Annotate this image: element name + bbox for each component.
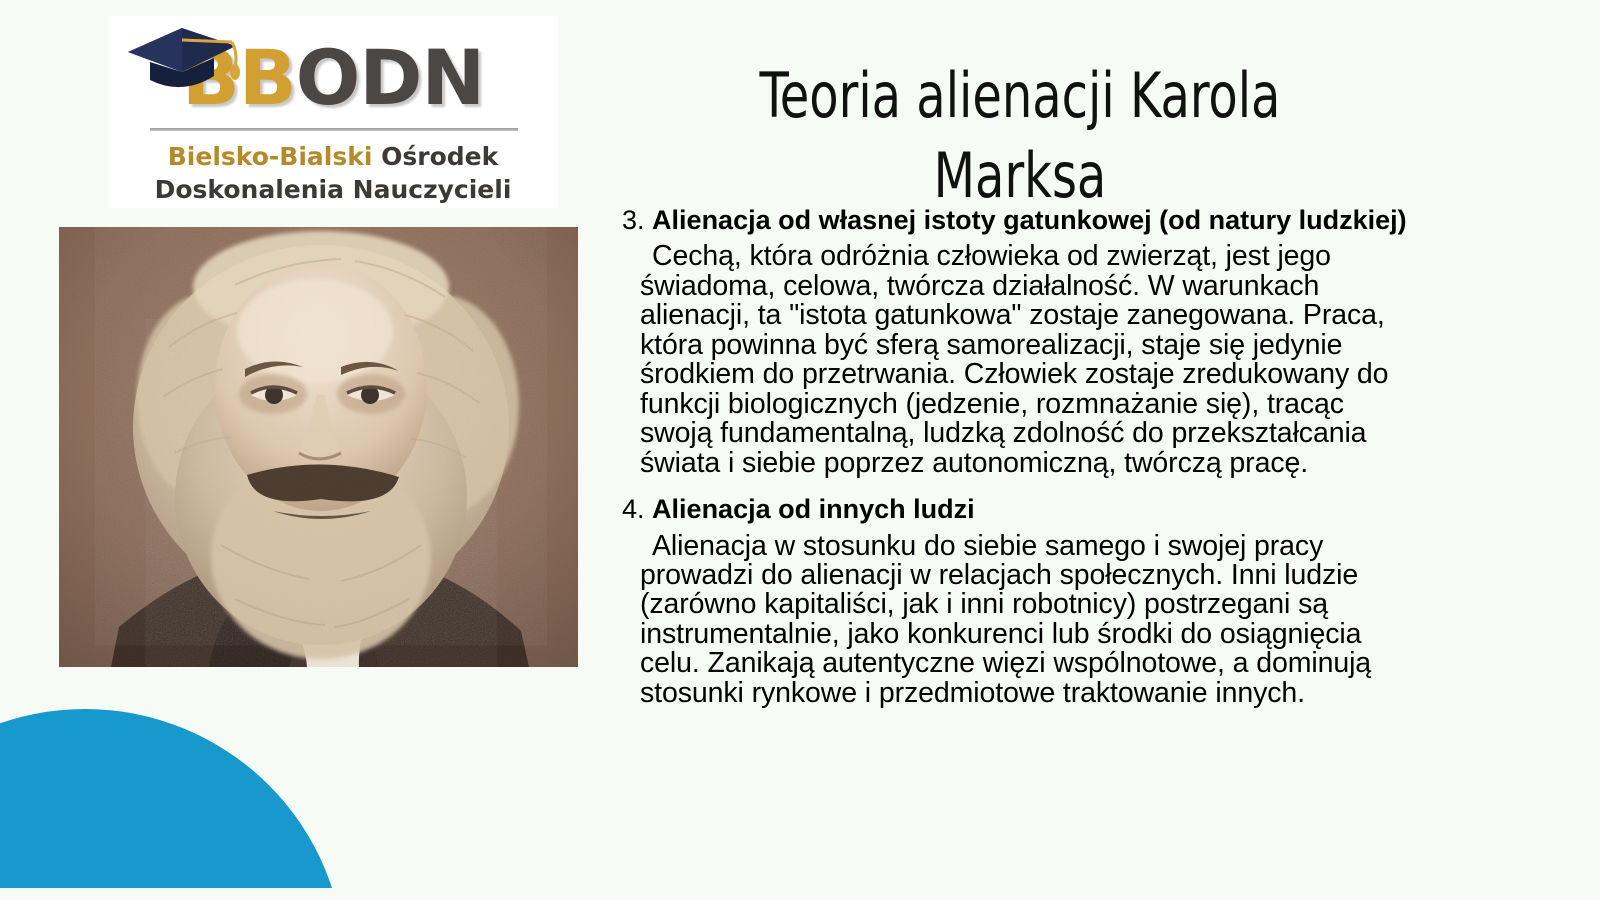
graduation-cap-icon xyxy=(124,24,254,94)
section-heading-4: 4. Alienacja od innych ludzi xyxy=(622,494,1422,525)
section-heading-3: 3. Alienacja od własnej istoty gatunkowe… xyxy=(622,205,1422,236)
section-title-4: Alienacja od innych ludzi xyxy=(652,494,975,524)
logo-subtitle-line2: Doskonalenia Nauczycieli xyxy=(108,173,558,206)
presentation-slide: BBODN Bielsko-Bialski Ośrodek Doskonalen… xyxy=(0,0,1600,900)
section-title-3: Alienacja od własnej istoty gatunkowej (… xyxy=(652,205,1407,235)
bbodn-logo: BBODN Bielsko-Bialski Ośrodek Doskonalen… xyxy=(108,16,558,208)
logo-subtitle-line1: Bielsko-Bialski Ośrodek xyxy=(108,140,558,173)
logo-subtitle: Bielsko-Bialski Ośrodek Doskonalenia Nau… xyxy=(108,140,558,206)
logo-subtitle-gold: Bielsko-Bialski xyxy=(168,142,373,171)
section-body-3: Cechą, która odróżnia człowieka od zwier… xyxy=(640,242,1422,478)
section-body-4: Alienacja w stosunku do siebie samego i … xyxy=(640,532,1422,709)
section-number-4: 4. xyxy=(622,494,645,524)
slide-body: 3. Alienacja od własnej istoty gatunkowe… xyxy=(622,205,1422,708)
page-title: Teoria alienacji Karola Marksa xyxy=(676,56,1364,217)
logo-divider xyxy=(150,128,518,131)
section-number-3: 3. xyxy=(622,205,645,235)
bottom-background-strip xyxy=(0,888,1600,900)
logo-wordmark-odn: ODN xyxy=(296,33,484,122)
karl-marx-portrait xyxy=(59,227,578,667)
logo-subtitle-dark: Ośrodek xyxy=(381,142,498,171)
decorative-blue-circle xyxy=(0,709,345,900)
